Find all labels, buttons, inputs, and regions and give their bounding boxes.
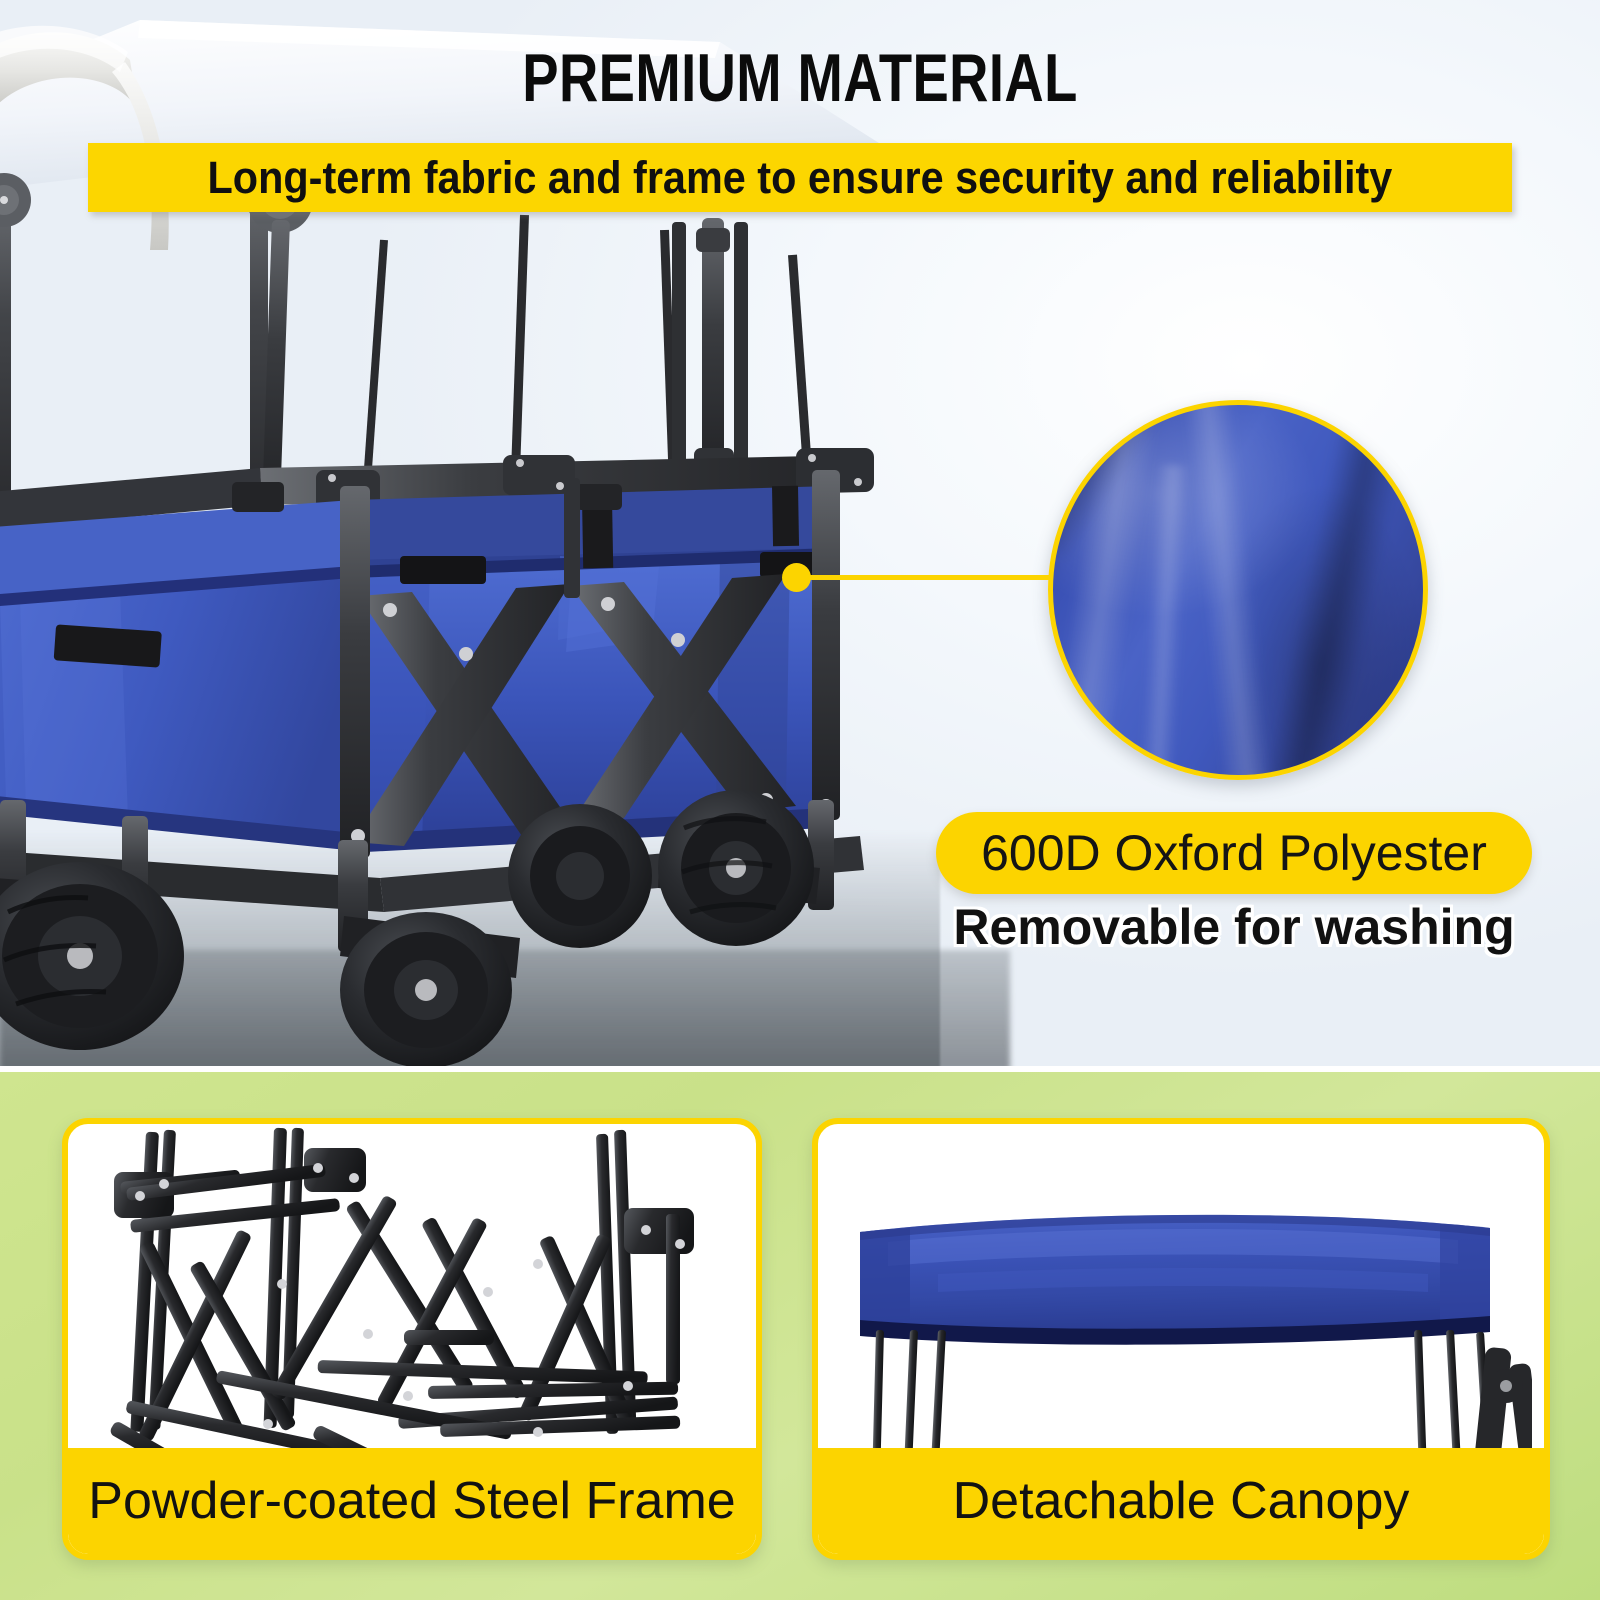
canopy-caption-text: Detachable Canopy: [953, 1471, 1410, 1531]
product-feature-infographic: PREMIUM MATERIAL Long-term fabric and fr…: [0, 0, 1600, 1600]
material-pill-text: 600D Oxford Polyester: [981, 824, 1487, 882]
washing-caption: Removable for washing: [936, 898, 1532, 956]
callout-connector-line: [798, 575, 1050, 580]
steel-frame-caption-text: Powder-coated Steel Frame: [88, 1471, 735, 1531]
feature-card-steel-frame: Powder-coated Steel Frame: [62, 1118, 762, 1560]
subtitle-banner: Long-term fabric and frame to ensure sec…: [88, 143, 1512, 212]
page-title: PREMIUM MATERIAL: [160, 44, 1440, 112]
callout-anchor-dot: [782, 563, 811, 592]
fabric-closeup-circle: [1048, 400, 1428, 780]
material-pill-label: 600D Oxford Polyester: [936, 812, 1532, 894]
canopy-caption: Detachable Canopy: [818, 1448, 1544, 1554]
top-hero-section: PREMIUM MATERIAL Long-term fabric and fr…: [0, 0, 1600, 1066]
subtitle-banner-text: Long-term fabric and frame to ensure sec…: [208, 152, 1393, 204]
steel-frame-caption: Powder-coated Steel Frame: [68, 1448, 756, 1554]
feature-card-canopy: Detachable Canopy: [812, 1118, 1550, 1560]
bottom-feature-section: Powder-coated Steel Frame: [0, 1072, 1600, 1600]
